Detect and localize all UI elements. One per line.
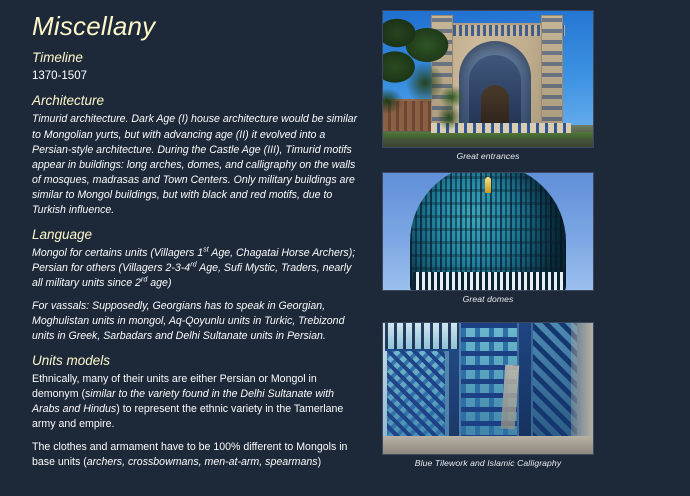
image-column: Great entrances Great domes [382, 0, 642, 496]
language-paragraph-1: Mongol for certains units (Villagers 1st… [32, 246, 362, 291]
page-title: Miscellany [32, 12, 362, 41]
tile-border-2 [519, 323, 531, 454]
foreground-tree-center [435, 83, 469, 135]
photo-blue-tilework [382, 322, 594, 455]
figure-great-domes: Great domes [382, 172, 594, 304]
units-models-paragraph-2: The clothes and armament have to be 100%… [32, 440, 362, 470]
figure-great-entrances: Great entrances [382, 10, 594, 161]
minaret-right [541, 15, 563, 133]
units-p2-italic-1: archers, crossbowmans, men-at-arm, spear… [87, 456, 318, 468]
slide-canvas: Miscellany Timeline 1370-1507 Architectu… [0, 0, 690, 496]
plaster-base [383, 436, 593, 454]
photo-great-entrances [382, 10, 594, 148]
section-heading-architecture: Architecture [32, 93, 362, 109]
figure-blue-tilework: Blue Tilework and Islamic Calligraphy [382, 322, 594, 468]
section-heading-units-models: Units models [32, 353, 362, 369]
lawn-strip [383, 132, 593, 139]
language-paragraph-2: For vassals: Supposedly, Georgians has t… [32, 299, 362, 344]
caption-blue-tilework: Blue Tilework and Islamic Calligraphy [382, 458, 594, 468]
gold-finial [485, 177, 491, 193]
architecture-paragraph: Timurid architecture. Dark Age (I) house… [32, 112, 362, 217]
language-p1-text-4: age) [147, 277, 171, 289]
plaster-edge-right [571, 323, 593, 454]
caption-great-entrances: Great entrances [382, 151, 594, 161]
section-heading-timeline: Timeline [32, 50, 362, 66]
caption-great-domes: Great domes [382, 294, 594, 304]
iwan-arch [459, 41, 531, 133]
photo-great-domes [382, 172, 594, 291]
arabic-calligraphy-band [385, 323, 459, 351]
content-column: Miscellany Timeline 1370-1507 Architectu… [32, 12, 362, 478]
timeline-value: 1370-1507 [32, 69, 362, 85]
language-p1-text-1: Mongol for certains units (Villagers 1 [32, 247, 203, 259]
units-p2-text-2: ) [318, 456, 322, 468]
section-heading-language: Language [32, 227, 362, 243]
units-models-paragraph-1: Ethnically, many of their units are eith… [32, 372, 362, 432]
dome-drum [413, 272, 563, 290]
